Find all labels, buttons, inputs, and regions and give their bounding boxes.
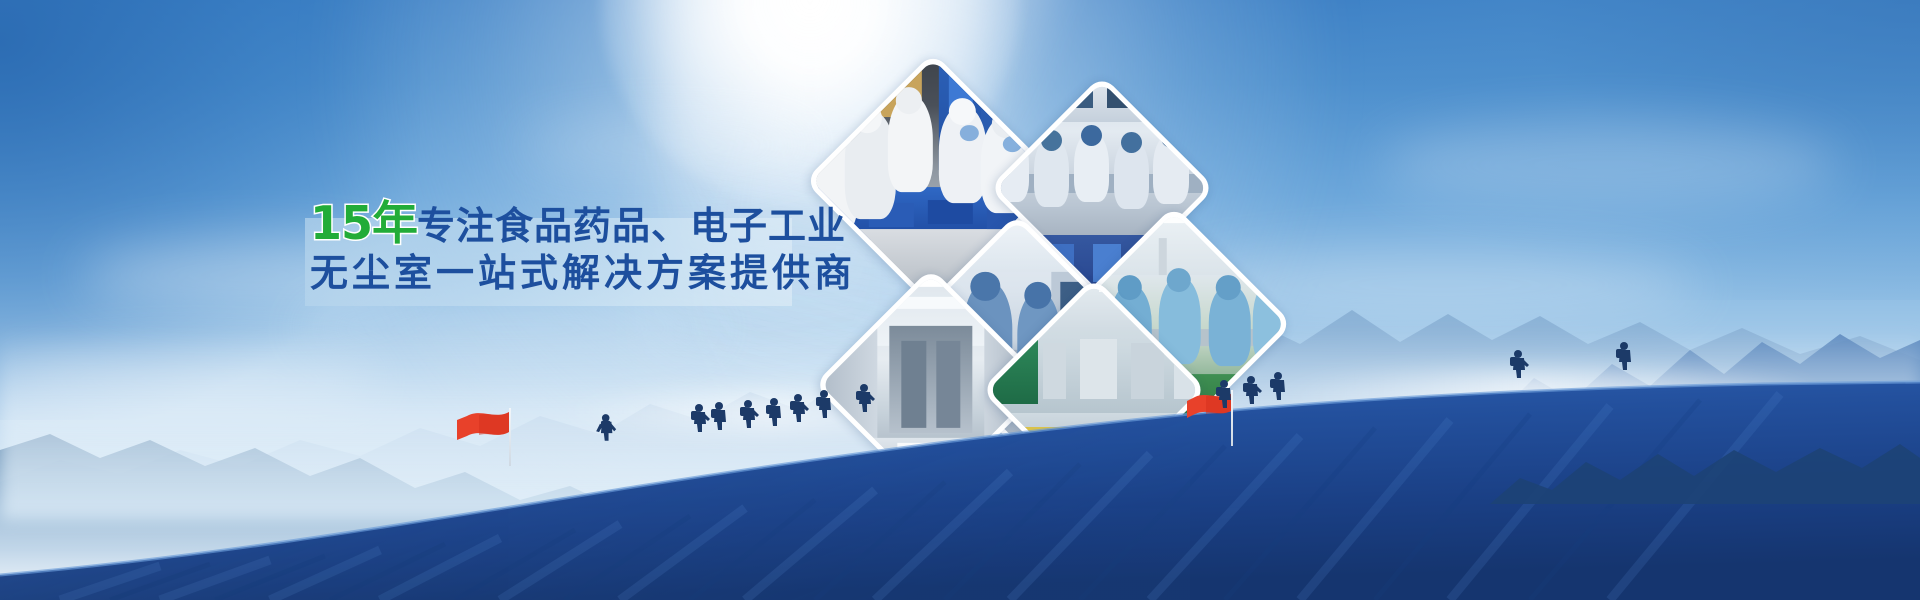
headline-line-2-text: 无尘室一站式解决方案提供商 bbox=[310, 251, 856, 295]
headline-line-1-text: 专注食品药品、电子工业 bbox=[417, 204, 846, 248]
cloud bbox=[1380, 120, 1840, 210]
cloud bbox=[520, 120, 820, 170]
headline-group: 15年专注食品药品、电子工业 无尘室一站式解决方案提供商 bbox=[310, 200, 810, 292]
years-badge: 15年 bbox=[310, 196, 417, 250]
climbers-silhouettes bbox=[0, 330, 1920, 470]
headline-line-2: 无尘室一站式解决方案提供商 bbox=[310, 254, 810, 292]
headline-line-1: 15年专注食品药品、电子工业 bbox=[310, 200, 810, 246]
hero-banner: 15年专注食品药品、电子工业 无尘室一站式解决方案提供商 bbox=[0, 0, 1920, 600]
